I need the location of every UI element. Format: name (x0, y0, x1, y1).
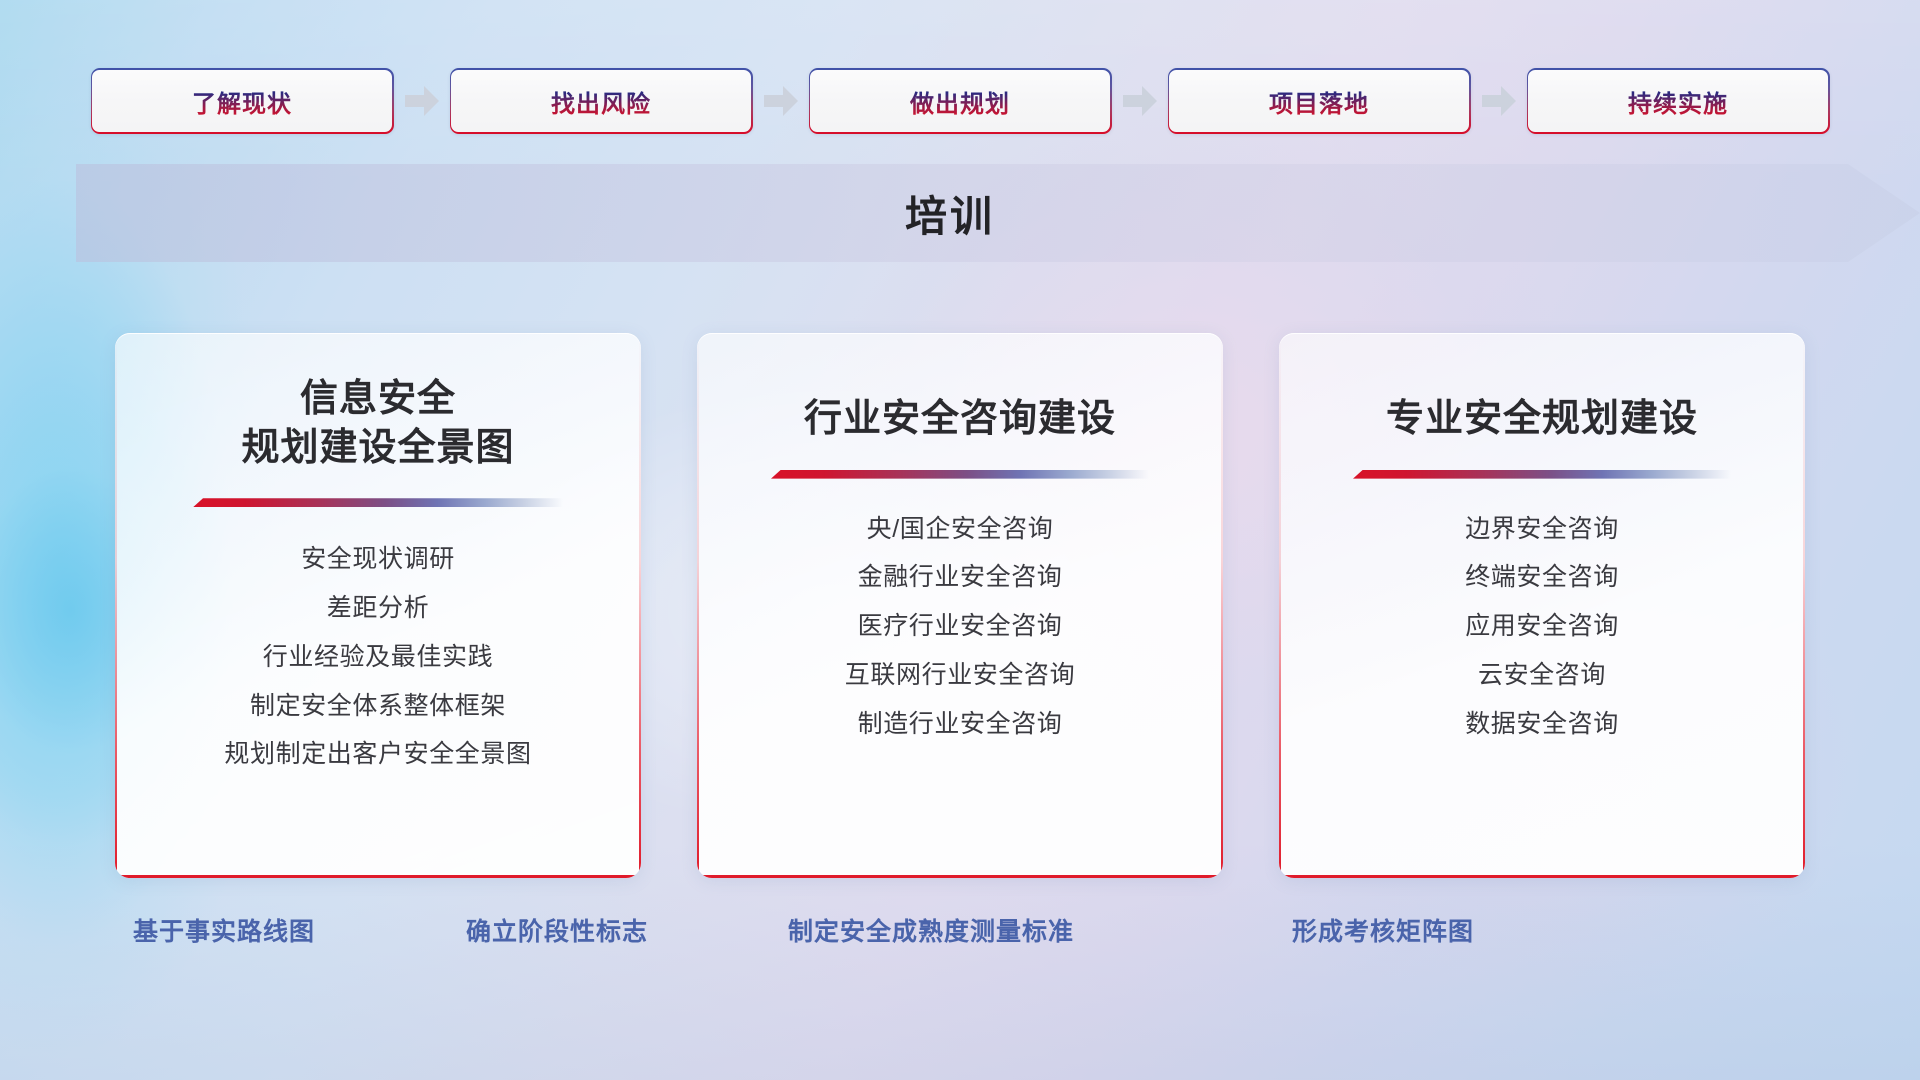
process-step-body: 项目落地 (1169, 70, 1469, 133)
list-item[interactable]: 制造行业安全咨询 (858, 708, 1063, 742)
card-gradient-divider (771, 470, 1149, 479)
list-item[interactable]: 终端安全咨询 (1465, 561, 1619, 595)
banner-label: 培训 (76, 164, 1920, 262)
training-banner: 培训 (76, 164, 1920, 262)
process-step-body: 了解现状 (92, 70, 392, 133)
card-title: 专业安全规划建设 (1386, 395, 1698, 444)
card-body: 专业安全规划建设边界安全咨询终端安全咨询应用安全咨询云安全咨询数据安全咨询 (1279, 333, 1805, 878)
list-item[interactable]: 互联网行业安全咨询 (845, 659, 1075, 693)
chevron-right-arrow-icon (753, 68, 809, 134)
process-step-label: 持续实施 (1628, 84, 1728, 119)
footnote-label-3: 制定安全成熟度测量标准 (788, 912, 1074, 948)
card-item-list: 安全现状调研差距分析行业经验及最佳实践制定安全体系整体框架规划制定出客户安全全景… (224, 543, 531, 772)
footnote-label-2: 确立阶段性标志 (466, 912, 648, 948)
process-step-5[interactable]: 持续实施 (1527, 68, 1830, 134)
process-step-label: 了解现状 (192, 84, 292, 119)
card-gradient-divider (193, 498, 563, 507)
chevron-right-arrow-icon (394, 68, 450, 134)
process-step-body: 找出风险 (451, 70, 751, 133)
list-item[interactable]: 差距分析 (327, 592, 429, 626)
list-item[interactable]: 安全现状调研 (301, 543, 455, 577)
footnotes-row: 基于事实路线图确立阶段性标志制定安全成熟度测量标准形成考核矩阵图 (0, 912, 1920, 964)
card-title: 信息安全规划建设全景图 (241, 375, 514, 472)
card-title-line: 行业安全咨询建设 (804, 395, 1116, 444)
card-title: 行业安全咨询建设 (804, 395, 1116, 444)
card-item-list: 边界安全咨询终端安全咨询应用安全咨询云安全咨询数据安全咨询 (1465, 513, 1619, 742)
list-item[interactable]: 制定安全体系整体框架 (250, 690, 506, 724)
process-step-4[interactable]: 项目落地 (1168, 68, 1471, 134)
process-step-2[interactable]: 找出风险 (450, 68, 753, 134)
chevron-right-arrow-icon (1471, 68, 1527, 134)
card-title-line: 专业安全规划建设 (1386, 395, 1698, 444)
process-step-1[interactable]: 了解现状 (91, 68, 394, 134)
process-step-body: 做出规划 (810, 70, 1110, 133)
card-item-list: 央/国企安全咨询金融行业安全咨询医疗行业安全咨询互联网行业安全咨询制造行业安全咨… (845, 513, 1075, 742)
process-step-label: 找出风险 (551, 84, 651, 119)
list-item[interactable]: 云安全咨询 (1478, 659, 1606, 693)
service-card-3[interactable]: 专业安全规划建设边界安全咨询终端安全咨询应用安全咨询云安全咨询数据安全咨询 (1279, 333, 1805, 878)
process-step-3[interactable]: 做出规划 (809, 68, 1112, 134)
process-step-label: 做出规划 (910, 84, 1010, 119)
process-step-label: 项目落地 (1269, 84, 1369, 119)
card-title-line: 规划建设全景图 (241, 424, 514, 473)
list-item[interactable]: 行业经验及最佳实践 (263, 641, 493, 675)
list-item[interactable]: 数据安全咨询 (1465, 708, 1619, 742)
process-step-body: 持续实施 (1528, 70, 1828, 133)
list-item[interactable]: 应用安全咨询 (1465, 610, 1619, 644)
card-gradient-divider (1353, 470, 1731, 479)
list-item[interactable]: 规划制定出客户安全全景图 (224, 738, 531, 772)
service-card-2[interactable]: 行业安全咨询建设央/国企安全咨询金融行业安全咨询医疗行业安全咨询互联网行业安全咨… (697, 333, 1223, 878)
card-body: 行业安全咨询建设央/国企安全咨询金融行业安全咨询医疗行业安全咨询互联网行业安全咨… (697, 333, 1223, 878)
list-item[interactable]: 医疗行业安全咨询 (858, 610, 1063, 644)
service-cards-row: 信息安全规划建设全景图安全现状调研差距分析行业经验及最佳实践制定安全体系整体框架… (0, 333, 1920, 878)
chevron-right-arrow-icon (1112, 68, 1168, 134)
card-body: 信息安全规划建设全景图安全现状调研差距分析行业经验及最佳实践制定安全体系整体框架… (115, 333, 641, 878)
list-item[interactable]: 央/国企安全咨询 (867, 513, 1054, 547)
card-title-line: 信息安全 (241, 375, 514, 424)
footnote-label-1: 基于事实路线图 (133, 912, 315, 948)
service-card-1[interactable]: 信息安全规划建设全景图安全现状调研差距分析行业经验及最佳实践制定安全体系整体框架… (115, 333, 641, 878)
process-steps-row: 了解现状找出风险做出规划项目落地持续实施 (0, 68, 1920, 134)
list-item[interactable]: 金融行业安全咨询 (858, 561, 1063, 595)
list-item[interactable]: 边界安全咨询 (1465, 513, 1619, 547)
footnote-label-4: 形成考核矩阵图 (1292, 912, 1474, 948)
